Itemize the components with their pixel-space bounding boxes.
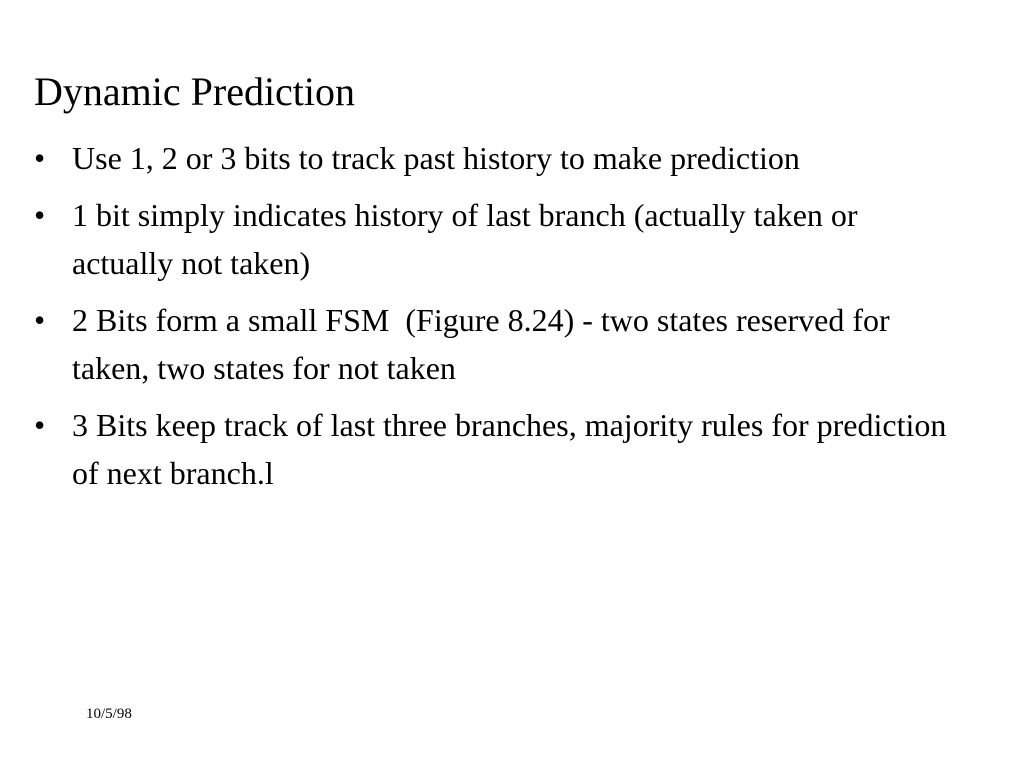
bullet-point-icon: • (34, 134, 72, 182)
bullet-point-icon: • (34, 191, 72, 239)
bullet-item-text: 1 bit simply indicates history of last b… (72, 191, 964, 287)
bullet-point-icon: • (34, 296, 72, 344)
presentation-slide: Dynamic Prediction • Use 1, 2 or 3 bits … (0, 0, 1024, 768)
bullet-item-text: Use 1, 2 or 3 bits to track past history… (72, 134, 964, 182)
bullet-point-icon: • (34, 401, 72, 449)
bullet-item-3: • 2 Bits form a small FSM (Figure 8.24) … (34, 296, 964, 392)
bullet-item-text: 2 Bits form a small FSM (Figure 8.24) - … (72, 296, 964, 392)
bullet-item-text: 3 Bits keep track of last three branches… (72, 401, 964, 497)
bullet-item-2: • 1 bit simply indicates history of last… (34, 191, 964, 287)
bullet-item-4: • 3 Bits keep track of last three branch… (34, 401, 964, 497)
slide-title: Dynamic Prediction (34, 69, 974, 115)
bullet-item-1: • Use 1, 2 or 3 bits to track past histo… (34, 134, 964, 182)
slide-bullet-list: • Use 1, 2 or 3 bits to track past histo… (34, 134, 964, 497)
slide-date-footer: 10/5/98 (86, 704, 132, 724)
